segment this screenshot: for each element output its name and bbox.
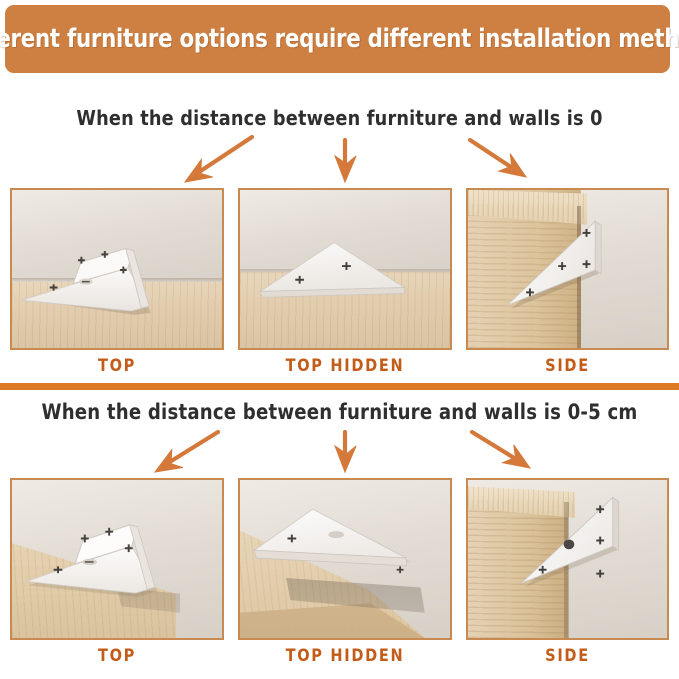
caption-top-row2: TOP	[15, 646, 218, 666]
caption-top-hidden-row2: TOP HIDDEN	[243, 646, 446, 666]
arrow-diagonal-right-row1	[470, 140, 532, 185]
arrow-diagonal-left-row2	[150, 432, 218, 481]
caption-side-row2: SIDE	[471, 646, 664, 666]
arrow-diagonal-right-row2	[472, 432, 536, 476]
arrow-straight-down-row1	[335, 140, 356, 182]
photo-side-row2	[466, 478, 669, 640]
caption-side-row1: SIDE	[471, 356, 664, 376]
photo-side-row1	[466, 188, 669, 350]
photo-top-row2	[10, 478, 224, 640]
header-banner: Different furniture options require diff…	[5, 5, 670, 73]
photo-top-hidden-row1	[238, 188, 452, 350]
banner-title: Different furniture options require diff…	[0, 24, 679, 54]
section-divider	[0, 383, 679, 390]
arrow-straight-down-row2	[335, 432, 356, 472]
caption-top-hidden-row1: TOP HIDDEN	[243, 356, 446, 376]
photo-top-hidden-row2	[238, 478, 452, 640]
section-2-heading: When the distance between furniture and …	[14, 400, 666, 424]
photo-top-row1	[10, 188, 224, 350]
caption-top-row1: TOP	[15, 356, 218, 376]
arrow-diagonal-left-row1	[180, 137, 252, 191]
section-1-heading: When the distance between furniture and …	[14, 106, 666, 130]
